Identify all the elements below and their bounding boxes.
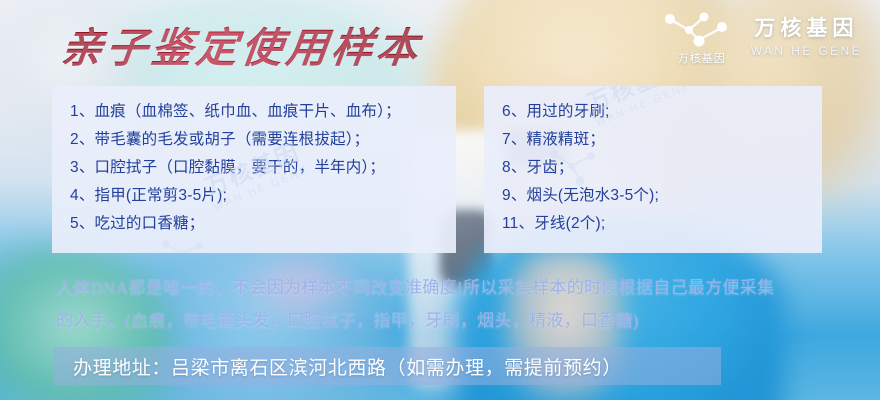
address-band: 办理地址：吕梁市离石区滨河北西路（如需办理，需提前预约） (53, 347, 721, 385)
list-item: 11、牙线(2个); (502, 210, 822, 238)
sample-panel-left: 万核基因 WAN HE GENE 1、血痕（血棉签、纸巾血、血痕干片、血布）； … (52, 86, 456, 253)
brand-wordmark: 万核基因 WAN HE GENE (751, 12, 862, 60)
list-item: 4、指甲(正常剪3-5片); (70, 182, 456, 210)
list-item: 5、吃过的口香糖； (70, 210, 456, 238)
sample-panel-right: 万核基因 WAN HE GENE 6、用过的牙刷; 7、精液精斑； 8、牙齿； … (484, 86, 822, 253)
list-item: 1、血痕（血棉签、纸巾血、血痕干片、血布）； (70, 98, 456, 126)
molecule-node-icon: 万核基因 (659, 8, 737, 64)
list-item: 6、用过的牙刷; (502, 98, 822, 126)
brand-name-cn: 万核基因 (754, 12, 858, 42)
list-item: 3、口腔拭子（口腔黏膜，要干的，半年内）； (70, 154, 456, 182)
note-line-2: 的入手。(血痕，带毛囊头发，口腔拭子，指甲，牙刷，烟头，精液，口香糖) (56, 304, 856, 337)
list-item: 2、带毛囊的毛发或胡子（需要连根拔起）； (70, 126, 456, 154)
brand-logo: 万核基因 万核基因 WAN HE GENE (659, 8, 862, 64)
brand-name-en: WAN HE GENE (751, 44, 862, 58)
watermark-molecule-icon (544, 144, 614, 199)
logo-mark-label: 万核基因 (667, 50, 737, 66)
note-paragraph: 人体DNA都是唯一的，不会因为样本不同改变准确度!所以采集样本的时候根据自己最方… (56, 271, 856, 337)
note-line-1: 人体DNA都是唯一的，不会因为样本不同改变准确度!所以采集样本的时候根据自己最方… (56, 271, 856, 304)
address-text: 办理地址：吕梁市离石区滨河北西路（如需办理，需提前预约） (53, 353, 622, 380)
poster-canvas: 万核基因 万核基因 WAN HE GENE 亲子鉴定使用样本 万核基因 WAN … (0, 0, 880, 400)
sample-list-left: 1、血痕（血棉签、纸巾血、血痕干片、血布）； 2、带毛囊的毛发或胡子（需要连根拔… (52, 86, 456, 238)
watermark-molecule-icon (158, 236, 218, 253)
sample-list-right: 6、用过的牙刷; 7、精液精斑； 8、牙齿； 9、烟头(无泡水3-5个); 11… (484, 86, 822, 238)
page-title: 亲子鉴定使用样本 (58, 14, 425, 74)
